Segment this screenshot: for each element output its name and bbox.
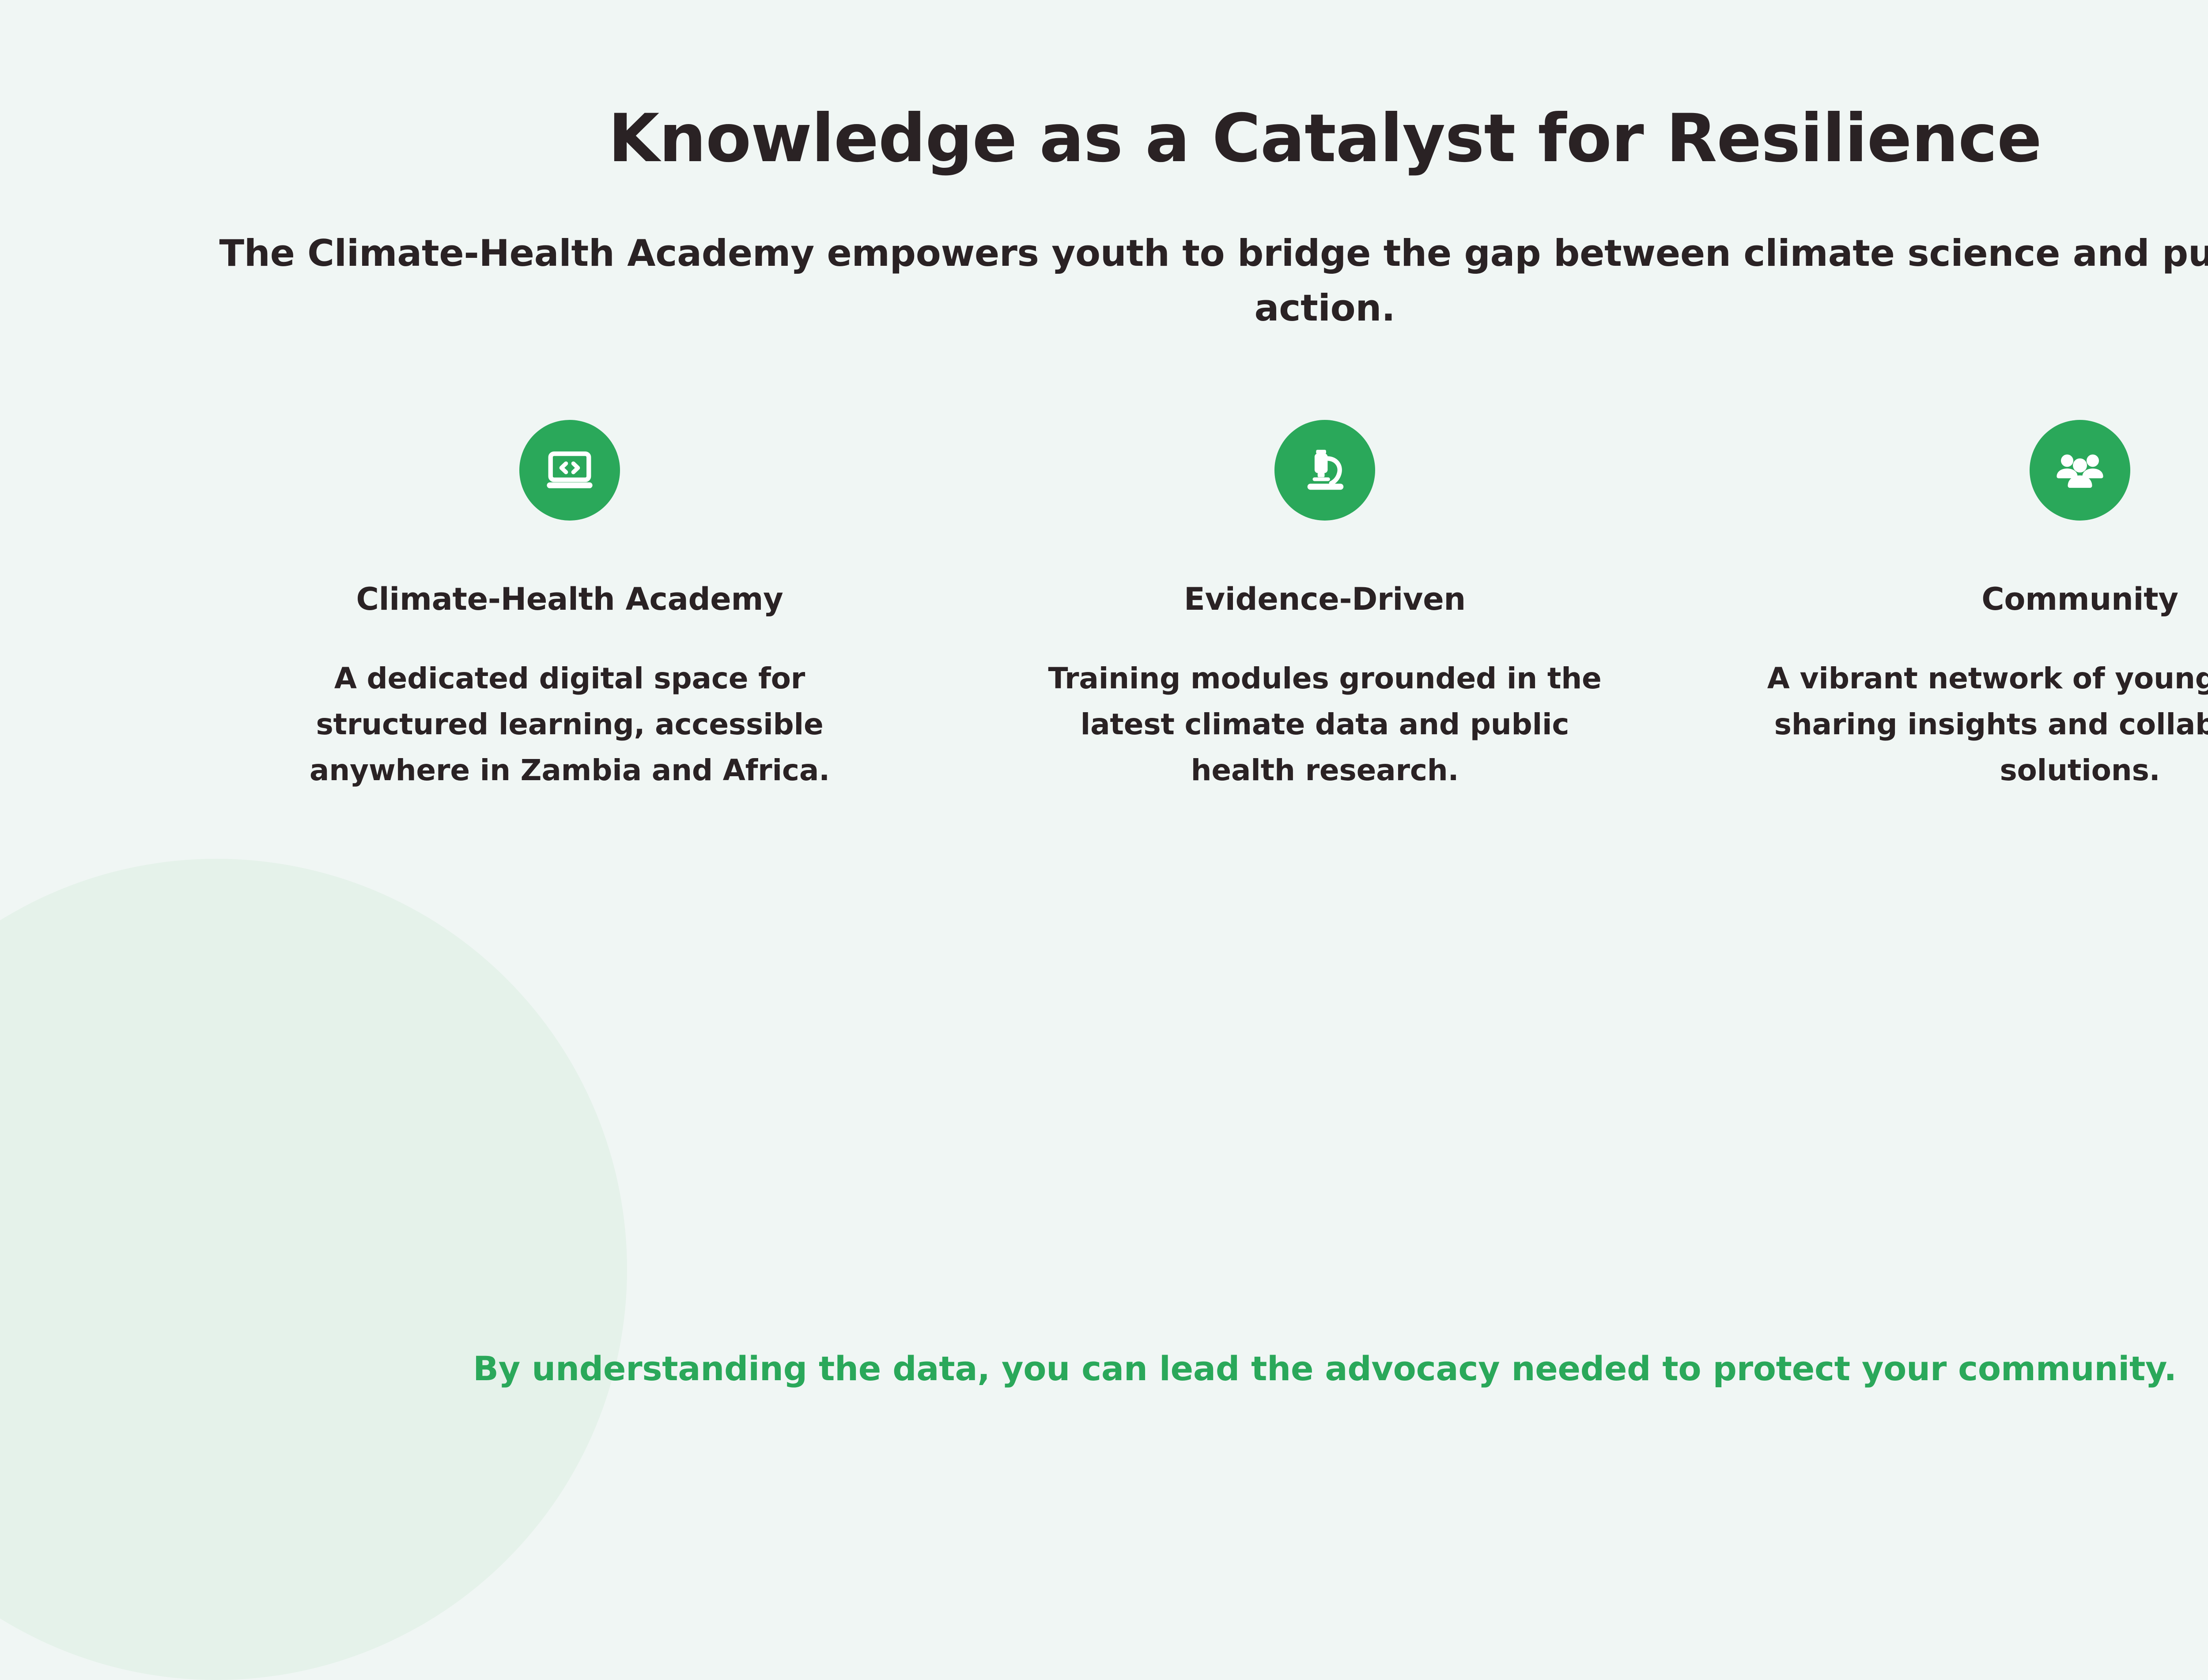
slide-content: Knowledge as a Catalyst for Resilience T…: [0, 0, 2208, 1490]
laptop-code-icon: [544, 444, 596, 496]
microscope-icon: [1299, 444, 1351, 496]
feature-title: Climate-Health Academy: [356, 581, 783, 618]
feature-title: Evidence-Driven: [1184, 581, 1466, 618]
feature-icon-badge: [2030, 420, 2130, 521]
feature-description: A vibrant network of young advocates sha…: [1766, 656, 2208, 794]
page-title: Knowledge as a Catalyst for Resilience: [0, 104, 2208, 174]
feature-card-evidence-driven: Evidence-Driven Training modules grounde…: [947, 420, 1702, 794]
feature-icon-badge: [519, 420, 620, 521]
closing-statement: By understanding the data, you can lead …: [0, 1349, 2208, 1388]
people-group-icon: [2054, 444, 2106, 496]
feature-description: Training modules grounded in the latest …: [1029, 656, 1621, 794]
feature-columns: Climate-Health Academy A dedicated digit…: [0, 420, 2208, 794]
feature-description: A dedicated digital space for structured…: [283, 656, 857, 794]
page-subtitle: The Climate-Health Academy empowers yout…: [166, 226, 2208, 336]
header: Knowledge as a Catalyst for Resilience T…: [0, 0, 2208, 336]
feature-icon-badge: [1274, 420, 1375, 521]
feature-card-climate-health-academy: Climate-Health Academy A dedicated digit…: [192, 420, 947, 794]
feature-card-community: Community A vibrant network of young adv…: [1702, 420, 2208, 794]
feature-title: Community: [1981, 581, 2178, 618]
